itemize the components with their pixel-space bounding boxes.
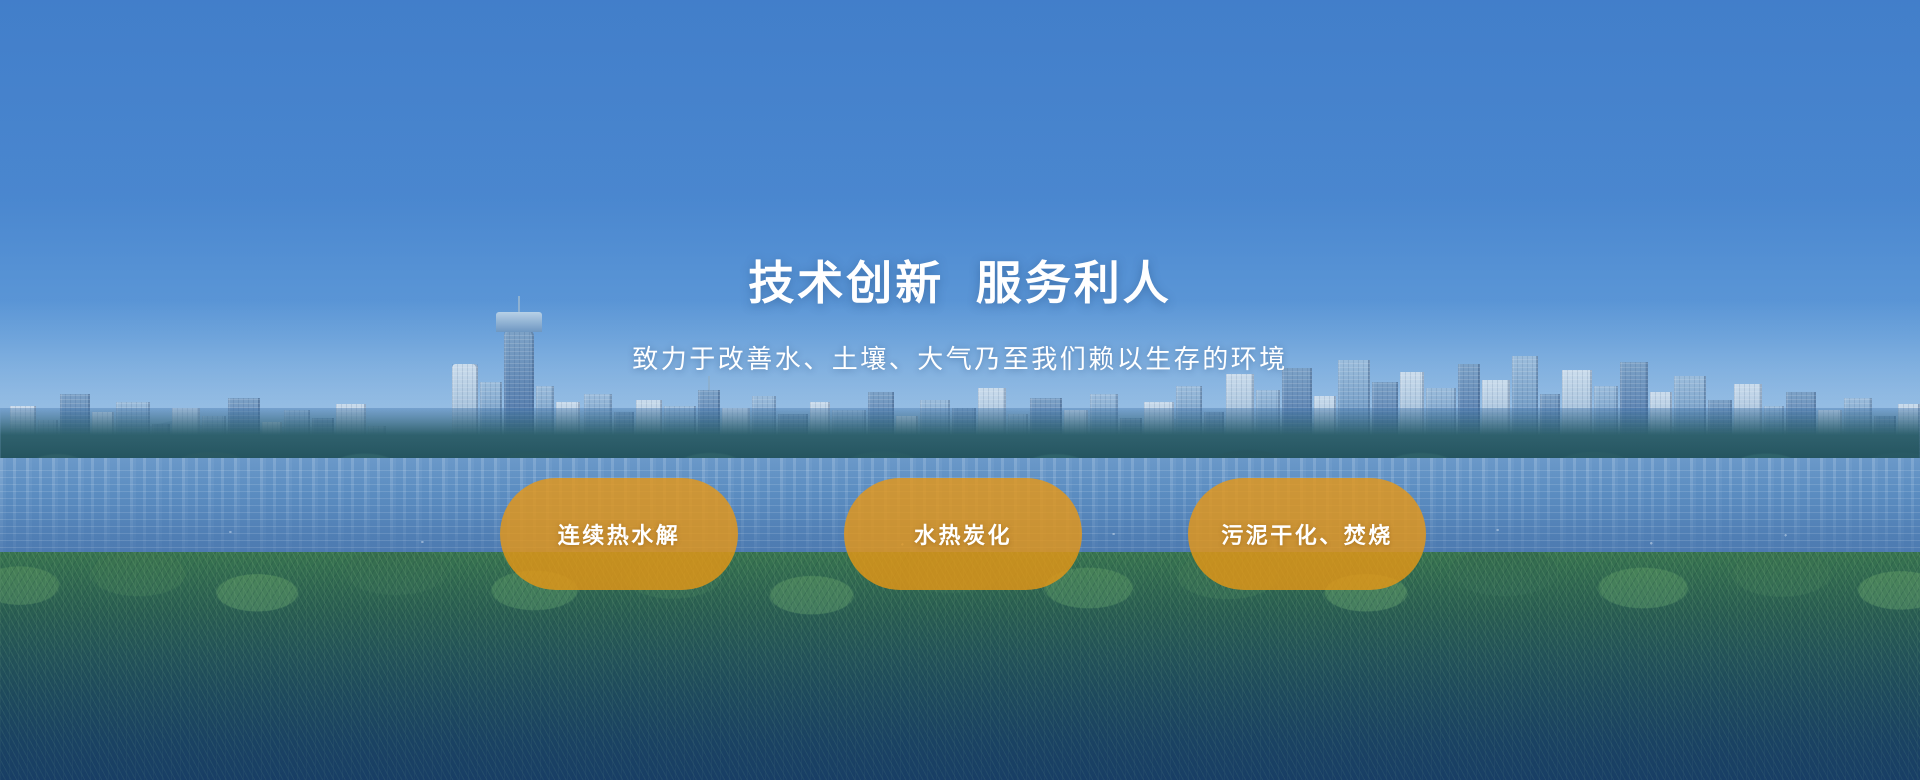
hero-banner: 技术创新 服务利人 致力于改善水、土壤、大气乃至我们赖以生存的环境 连续热水解 … — [0, 0, 1920, 780]
cta-button-sludge-drying-incineration[interactable]: 污泥干化、焚烧 — [1188, 478, 1426, 590]
page-title: 技术创新 服务利人 — [0, 256, 1920, 310]
treeline-atmospheric-shade — [0, 408, 1920, 464]
landmark-tower-cap — [496, 312, 542, 332]
cta-button-row: 连续热水解 水热炭化 污泥干化、焚烧 — [500, 478, 1426, 590]
cta-button-continuous-thermal-hydrolysis[interactable]: 连续热水解 — [500, 478, 738, 590]
hero-subtitle: 致力于改善水、土壤、大气乃至我们赖以生存的环境 — [0, 342, 1920, 376]
cta-button-hydrothermal-carbonization[interactable]: 水热炭化 — [844, 478, 1082, 590]
